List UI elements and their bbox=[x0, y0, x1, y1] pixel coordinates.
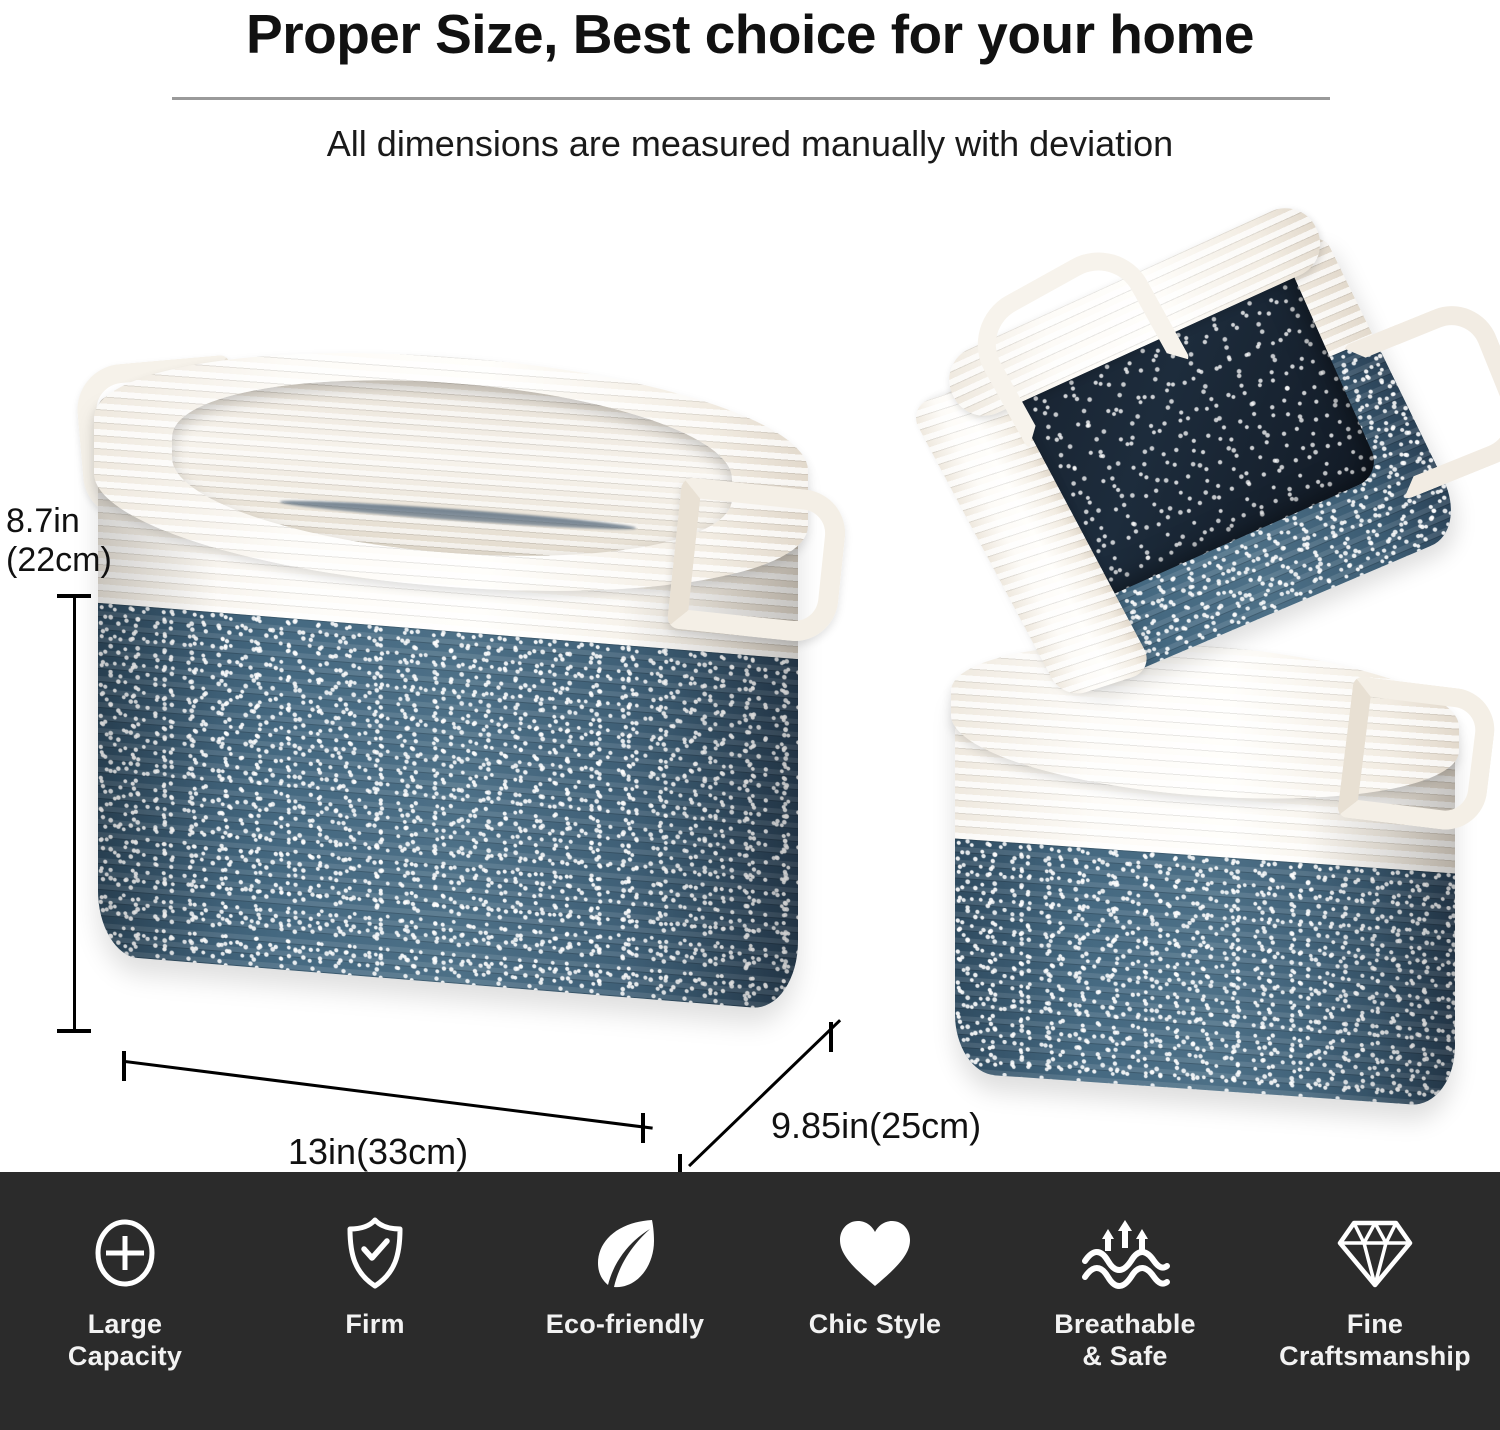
front-left-basket bbox=[80, 335, 840, 1035]
basket-interior bbox=[172, 363, 732, 574]
feature-list: Large Capacity Firm Eco-friendly bbox=[0, 1172, 1500, 1430]
feature-label: Firm bbox=[345, 1308, 404, 1340]
header-section: Proper Size, Best choice for your home A… bbox=[0, 0, 1500, 180]
width-dimension-cap-left bbox=[122, 1051, 126, 1081]
page-title: Proper Size, Best choice for your home bbox=[0, 2, 1500, 66]
header-subtitle: All dimensions are measured manually wit… bbox=[0, 123, 1500, 165]
feature-breathable-safe: Breathable & Safe bbox=[1000, 1172, 1250, 1373]
breathable-waves-icon bbox=[1079, 1214, 1171, 1292]
feature-label: Breathable & Safe bbox=[1054, 1308, 1196, 1373]
width-dimension-cap-right bbox=[641, 1113, 645, 1143]
width-dimension-label: 13in(33cm) bbox=[288, 1131, 468, 1172]
feature-firm: Firm bbox=[250, 1172, 500, 1340]
basket-handle-right bbox=[667, 477, 850, 646]
circle-plus-icon bbox=[89, 1214, 161, 1292]
header-divider bbox=[172, 97, 1330, 100]
width-dimension-line bbox=[125, 1060, 653, 1130]
feature-label: Fine Craftsmanship bbox=[1279, 1308, 1471, 1373]
height-dimension-cap-bottom bbox=[57, 1029, 91, 1033]
feature-bar: Large Capacity Firm Eco-friendly bbox=[0, 1172, 1500, 1430]
feature-label: Chic Style bbox=[809, 1308, 942, 1340]
leaf-icon bbox=[588, 1214, 662, 1292]
depth-dimension-cap-right bbox=[829, 1022, 833, 1052]
feature-eco-friendly: Eco-friendly bbox=[500, 1172, 750, 1340]
feature-label: Large Capacity bbox=[68, 1308, 182, 1373]
height-dimension-cap-top bbox=[57, 594, 91, 598]
product-image-area: 8.7in (22cm) 13in(33cm) 9.85in(25cm) bbox=[0, 180, 1500, 1172]
heart-icon bbox=[836, 1214, 914, 1292]
feature-fine-craftsmanship: Fine Craftsmanship bbox=[1250, 1172, 1500, 1373]
height-dimension-label: 8.7in (22cm) bbox=[6, 502, 112, 580]
depth-dimension-label: 9.85in(25cm) bbox=[771, 1105, 981, 1146]
feature-large-capacity: Large Capacity bbox=[0, 1172, 250, 1373]
feature-label: Eco-friendly bbox=[546, 1308, 704, 1340]
diamond-icon bbox=[1336, 1214, 1414, 1292]
shield-check-icon bbox=[341, 1214, 409, 1292]
height-dimension-line bbox=[73, 595, 76, 1032]
basket-handle-right bbox=[1337, 676, 1499, 835]
feature-chic-style: Chic Style bbox=[750, 1172, 1000, 1340]
